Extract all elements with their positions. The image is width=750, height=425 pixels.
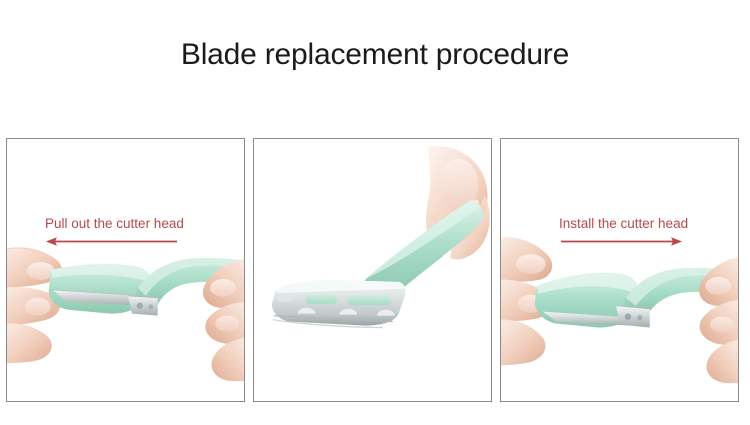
panel-pull-out[interactable]: Pull out the cutter head bbox=[6, 138, 245, 402]
page-title: Blade replacement procedure bbox=[0, 38, 750, 72]
scene-blade-detail bbox=[254, 139, 491, 401]
panel-row: Pull out the cutter head bbox=[6, 138, 744, 404]
panel-install[interactable]: Install the cutter head bbox=[500, 138, 739, 402]
panel-blade-detail[interactable] bbox=[253, 138, 492, 402]
scene-pull-out bbox=[7, 139, 244, 401]
scene-install bbox=[501, 139, 738, 401]
